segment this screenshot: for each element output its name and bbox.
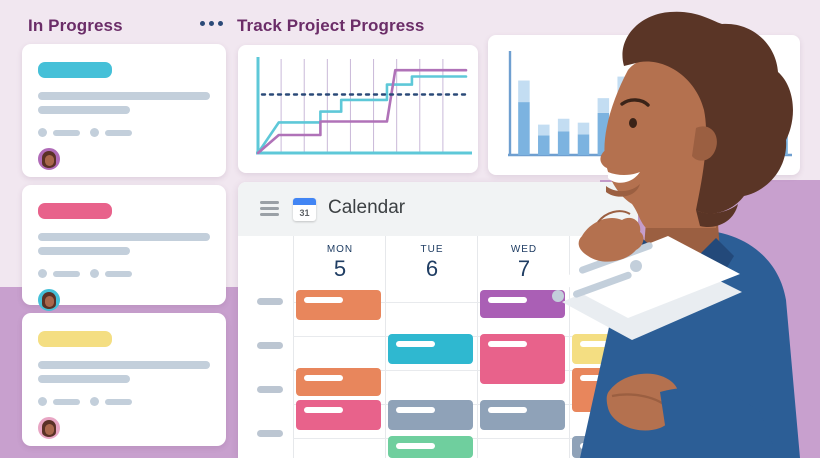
meta-dot-icon [38, 397, 47, 406]
calendar-event-title-placeholder [396, 341, 435, 347]
held-card-dot [630, 260, 642, 272]
calendar-day-header[interactable]: MON5 [294, 244, 386, 282]
calendar-event[interactable] [296, 368, 381, 396]
task-tag [38, 62, 112, 78]
calendar-day-number: 6 [386, 256, 478, 282]
heading-track-project-progress: Track Project Progress [237, 16, 424, 36]
calendar-title: Calendar [328, 197, 405, 219]
calendar-day-name: MON [294, 244, 386, 255]
person-illustration [520, 0, 820, 458]
meta-label-placeholder [53, 271, 80, 277]
calendar-event-title-placeholder [396, 407, 435, 413]
task-meta-item [90, 269, 132, 278]
illustration-canvas: In Progress Track Project Progress [0, 0, 820, 458]
calendar-hour-marker [257, 298, 283, 305]
meta-label-placeholder [53, 130, 80, 136]
meta-label-placeholder [105, 130, 132, 136]
meta-dot-icon [90, 128, 99, 137]
calendar-event[interactable] [388, 400, 473, 430]
calendar-event-title-placeholder [304, 375, 343, 381]
task-subtitle-placeholder [38, 247, 130, 255]
heading-in-progress: In Progress [28, 16, 123, 36]
task-meta-item [90, 128, 132, 137]
calendar-hour-marker [257, 342, 283, 349]
avatar[interactable] [38, 417, 60, 439]
meta-dot-icon [38, 269, 47, 278]
calendar-event[interactable] [296, 290, 381, 320]
meta-dot-icon [90, 397, 99, 406]
three-dots-icon[interactable] [200, 21, 223, 26]
task-title-placeholder [38, 92, 210, 100]
avatar[interactable] [38, 289, 60, 311]
task-meta-item [90, 397, 132, 406]
calendar-event[interactable] [388, 436, 473, 458]
calendar-event-title-placeholder [304, 297, 343, 303]
task-subtitle-placeholder [38, 106, 130, 114]
task-meta-item [38, 397, 80, 406]
progress-line-chart-panel [238, 45, 478, 173]
calendar-day-name: TUE [386, 244, 478, 255]
calendar-day-header[interactable]: TUE6 [386, 244, 478, 282]
calendar-icon-day: 31 [293, 205, 316, 221]
task-title-placeholder [38, 233, 210, 241]
task-tag [38, 331, 112, 347]
calendar-event-title-placeholder [396, 443, 435, 449]
calendar-event-title-placeholder [304, 407, 343, 413]
progress-line-chart [238, 45, 478, 173]
hamburger-icon[interactable] [260, 201, 279, 216]
task-card[interactable] [22, 313, 226, 446]
eye [629, 118, 637, 128]
series-actual [258, 77, 466, 154]
calendar-event[interactable] [296, 400, 381, 430]
meta-dot-icon [38, 128, 47, 137]
task-tag [38, 203, 112, 219]
series-planned [258, 70, 466, 153]
calendar-hour-marker [257, 386, 283, 393]
task-card[interactable] [22, 44, 226, 177]
calendar-day-number: 5 [294, 256, 386, 282]
task-subtitle-placeholder [38, 375, 130, 383]
avatar[interactable] [38, 148, 60, 170]
calendar-hour-marker [257, 430, 283, 437]
calendar-event[interactable] [388, 334, 473, 364]
task-meta-item [38, 269, 80, 278]
task-card[interactable] [22, 185, 226, 305]
meta-dot-icon [90, 269, 99, 278]
meta-label-placeholder [53, 399, 80, 405]
calendar-31-icon[interactable]: 31 [293, 198, 316, 221]
meta-label-placeholder [105, 399, 132, 405]
task-title-placeholder [38, 361, 210, 369]
meta-label-placeholder [105, 271, 132, 277]
task-meta-item [38, 128, 80, 137]
held-card-dot [552, 290, 564, 302]
